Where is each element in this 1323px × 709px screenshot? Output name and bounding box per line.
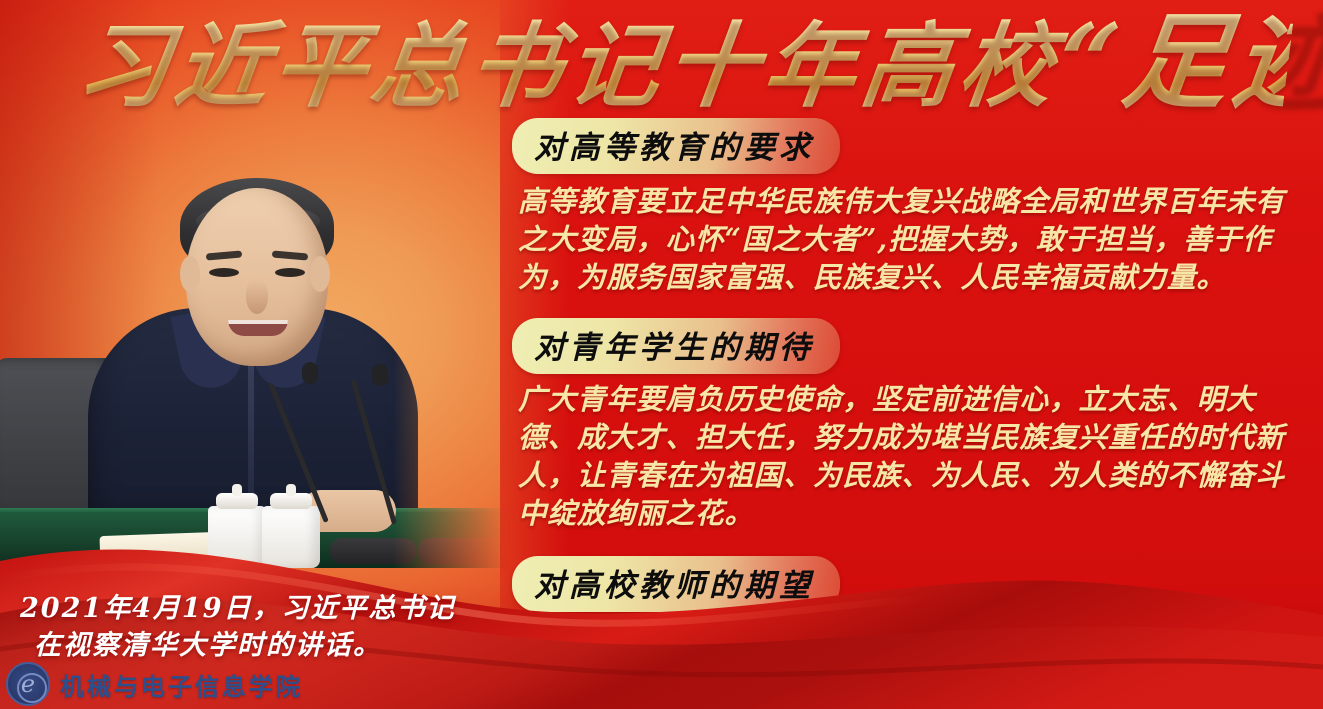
microphone-base-one: [330, 538, 416, 564]
section-higher-education: 对高等教育的要求 高等教育要立足中华民族伟大复兴战略全局和世界百年未有之大变局，…: [512, 118, 1312, 296]
college-emblem-icon: [6, 662, 50, 706]
microphone-base-two: [418, 538, 504, 564]
teacup-one-icon: [208, 506, 266, 568]
leader-photo: [0, 160, 505, 610]
section-body-text: 高等教育要立足中华民族伟大复兴战略全局和世界百年未有之大变局，心怀“国之大者”,…: [518, 182, 1308, 296]
caption-line-2: 在视察清华大学时的讲话。: [20, 627, 490, 664]
eye-left-shape: [209, 268, 239, 277]
photo-fade-mask: [0, 160, 505, 610]
mouth-shape: [228, 320, 288, 336]
poster-root: 习近平总书记十年高校“足迹” 对高等教育的要求 高等教育要立足中华民族伟大复兴战…: [0, 0, 1323, 709]
nose-shape: [246, 280, 268, 314]
photo-caption: 2021年4月19日，习近平总书记 在视察清华大学时的讲话。: [20, 590, 490, 664]
section-youth-students: 对青年学生的期待 广大青年要肩负历史使命，坚定前进信心，立大志、明大德、成大才、…: [512, 318, 1312, 532]
paper-shape: [99, 532, 220, 568]
microphone-head-two-icon: [372, 364, 388, 386]
section-university-teachers: 对高校教师的期望 广大教师要成为“大先生”、要研究真问题、要坚定信念，始终同党和…: [512, 556, 1312, 709]
college-logo-label: 机械与电子信息学院: [60, 667, 303, 702]
college-logo: 机械与电子信息学院: [6, 662, 303, 706]
section-heading-badge: 对高等教育的要求: [512, 118, 840, 174]
caption-line-1: 2021年4月19日，习近平总书记: [20, 593, 456, 624]
content-column: 对高等教育的要求 高等教育要立足中华民族伟大复兴战略全局和世界百年未有之大变局，…: [512, 118, 1312, 709]
head-shape: [186, 188, 328, 366]
poster-title-quote: “足迹”: [1051, 0, 1323, 123]
ear-left-shape: [180, 256, 200, 292]
poster-title-main: 习近平总书记十年高校: [71, 12, 1064, 120]
microphone-head-one-icon: [302, 362, 318, 384]
section-body-text: 广大青年要肩负历史使命，坚定前进信心，立大志、明大德、成大才、担大任，努力成为堪…: [518, 380, 1308, 532]
teacup-two-icon: [262, 506, 320, 568]
eye-right-shape: [275, 268, 305, 277]
poster-title: 习近平总书记十年高校“足迹”: [71, 6, 1295, 124]
ear-right-shape: [310, 256, 330, 292]
section-heading-badge: 对高校教师的期望: [512, 556, 840, 612]
section-body-text: 广大教师要成为“大先生”、要研究真问题、要坚定信念，始终同党和人民站在一起，自觉…: [518, 618, 1308, 709]
section-heading-badge: 对青年学生的期待: [512, 318, 840, 374]
